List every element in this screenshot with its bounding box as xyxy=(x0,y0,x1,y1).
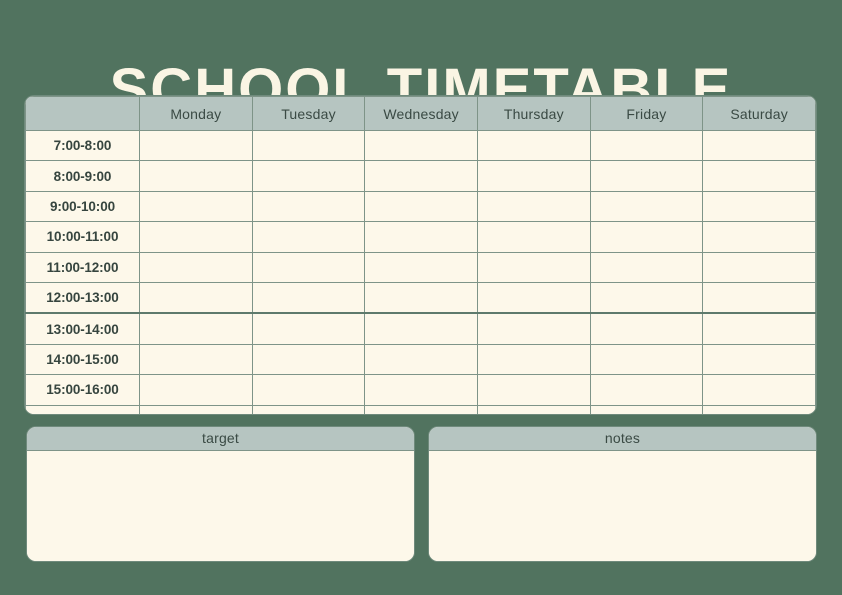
target-panel-title: target xyxy=(27,427,414,451)
schedule-cell[interactable] xyxy=(365,222,478,252)
schedule-cell[interactable] xyxy=(703,375,816,405)
time-slot-label: 12:00-13:00 xyxy=(26,282,140,313)
schedule-cell[interactable] xyxy=(365,344,478,374)
timetable-body: 7:00-8:008:00-9:009:00-10:0010:00-11:001… xyxy=(26,131,816,415)
schedule-cell[interactable] xyxy=(703,131,816,161)
schedule-cell[interactable] xyxy=(252,375,365,405)
schedule-cell[interactable] xyxy=(477,282,590,313)
time-slot-label: 10:00-11:00 xyxy=(26,222,140,252)
timetable-row: 8:00-9:00 xyxy=(26,161,816,191)
timetable-row: 16:00-17:00 xyxy=(26,405,816,414)
schedule-cell[interactable] xyxy=(590,282,703,313)
schedule-cell[interactable] xyxy=(703,313,816,344)
schedule-cell[interactable] xyxy=(703,191,816,221)
schedule-cell[interactable] xyxy=(477,222,590,252)
time-slot-label: 11:00-12:00 xyxy=(26,252,140,282)
timetable-row: 13:00-14:00 xyxy=(26,313,816,344)
day-header-saturday: Saturday xyxy=(703,97,816,131)
notes-panel: notes xyxy=(429,427,816,561)
schedule-cell[interactable] xyxy=(365,161,478,191)
time-slot-label: 9:00-10:00 xyxy=(26,191,140,221)
schedule-cell[interactable] xyxy=(590,313,703,344)
schedule-cell[interactable] xyxy=(140,222,253,252)
schedule-cell[interactable] xyxy=(140,344,253,374)
time-slot-label: 8:00-9:00 xyxy=(26,161,140,191)
day-header-friday: Friday xyxy=(590,97,703,131)
schedule-cell[interactable] xyxy=(703,252,816,282)
schedule-cell[interactable] xyxy=(590,375,703,405)
schedule-cell[interactable] xyxy=(252,282,365,313)
schedule-cell[interactable] xyxy=(252,405,365,414)
timetable-row: 7:00-8:00 xyxy=(26,131,816,161)
schedule-cell[interactable] xyxy=(703,405,816,414)
timetable: MondayTuesdayWednesdayThursdayFridaySatu… xyxy=(25,96,816,414)
day-header-wednesday: Wednesday xyxy=(365,97,478,131)
day-header-tuesday: Tuesday xyxy=(252,97,365,131)
schedule-cell[interactable] xyxy=(365,252,478,282)
schedule-cell[interactable] xyxy=(252,131,365,161)
schedule-cell[interactable] xyxy=(365,405,478,414)
schedule-cell[interactable] xyxy=(140,375,253,405)
time-slot-label: 14:00-15:00 xyxy=(26,344,140,374)
schedule-cell[interactable] xyxy=(477,405,590,414)
timetable-row: 12:00-13:00 xyxy=(26,282,816,313)
day-header-monday: Monday xyxy=(140,97,253,131)
time-column-header xyxy=(26,97,140,131)
target-panel-body[interactable] xyxy=(27,451,414,561)
schedule-cell[interactable] xyxy=(590,222,703,252)
schedule-cell[interactable] xyxy=(252,222,365,252)
schedule-cell[interactable] xyxy=(365,313,478,344)
schedule-cell[interactable] xyxy=(703,282,816,313)
schedule-cell[interactable] xyxy=(252,191,365,221)
schedule-cell[interactable] xyxy=(590,344,703,374)
timetable-grid: MondayTuesdayWednesdayThursdayFridaySatu… xyxy=(25,96,816,414)
schedule-cell[interactable] xyxy=(252,252,365,282)
bottom-panels: target notes xyxy=(27,427,816,561)
time-slot-label: 16:00-17:00 xyxy=(26,405,140,414)
schedule-cell[interactable] xyxy=(590,161,703,191)
timetable-row: 10:00-11:00 xyxy=(26,222,816,252)
notes-panel-body[interactable] xyxy=(429,451,816,561)
schedule-cell[interactable] xyxy=(140,191,253,221)
notes-panel-title: notes xyxy=(429,427,816,451)
time-slot-label: 13:00-14:00 xyxy=(26,313,140,344)
schedule-cell[interactable] xyxy=(140,282,253,313)
schedule-cell[interactable] xyxy=(140,131,253,161)
target-panel: target xyxy=(27,427,414,561)
schedule-cell[interactable] xyxy=(140,405,253,414)
schedule-cell[interactable] xyxy=(477,344,590,374)
schedule-cell[interactable] xyxy=(477,161,590,191)
timetable-row: 15:00-16:00 xyxy=(26,375,816,405)
schedule-cell[interactable] xyxy=(365,375,478,405)
day-header-thursday: Thursday xyxy=(477,97,590,131)
schedule-cell[interactable] xyxy=(477,313,590,344)
schedule-cell[interactable] xyxy=(252,161,365,191)
schedule-cell[interactable] xyxy=(365,191,478,221)
schedule-cell[interactable] xyxy=(140,252,253,282)
timetable-row: 14:00-15:00 xyxy=(26,344,816,374)
schedule-cell[interactable] xyxy=(703,161,816,191)
schedule-cell[interactable] xyxy=(252,344,365,374)
schedule-cell[interactable] xyxy=(703,344,816,374)
timetable-header-row: MondayTuesdayWednesdayThursdayFridaySatu… xyxy=(26,97,816,131)
schedule-cell[interactable] xyxy=(477,375,590,405)
schedule-cell[interactable] xyxy=(477,131,590,161)
schedule-cell[interactable] xyxy=(590,131,703,161)
schedule-cell[interactable] xyxy=(477,191,590,221)
time-slot-label: 15:00-16:00 xyxy=(26,375,140,405)
schedule-cell[interactable] xyxy=(477,252,590,282)
timetable-row: 9:00-10:00 xyxy=(26,191,816,221)
timetable-row: 11:00-12:00 xyxy=(26,252,816,282)
schedule-cell[interactable] xyxy=(140,313,253,344)
schedule-cell[interactable] xyxy=(590,191,703,221)
schedule-cell[interactable] xyxy=(140,161,253,191)
schedule-cell[interactable] xyxy=(590,252,703,282)
schedule-cell[interactable] xyxy=(703,222,816,252)
time-slot-label: 7:00-8:00 xyxy=(26,131,140,161)
schedule-cell[interactable] xyxy=(590,405,703,414)
schedule-cell[interactable] xyxy=(365,282,478,313)
schedule-cell[interactable] xyxy=(252,313,365,344)
schedule-cell[interactable] xyxy=(365,131,478,161)
